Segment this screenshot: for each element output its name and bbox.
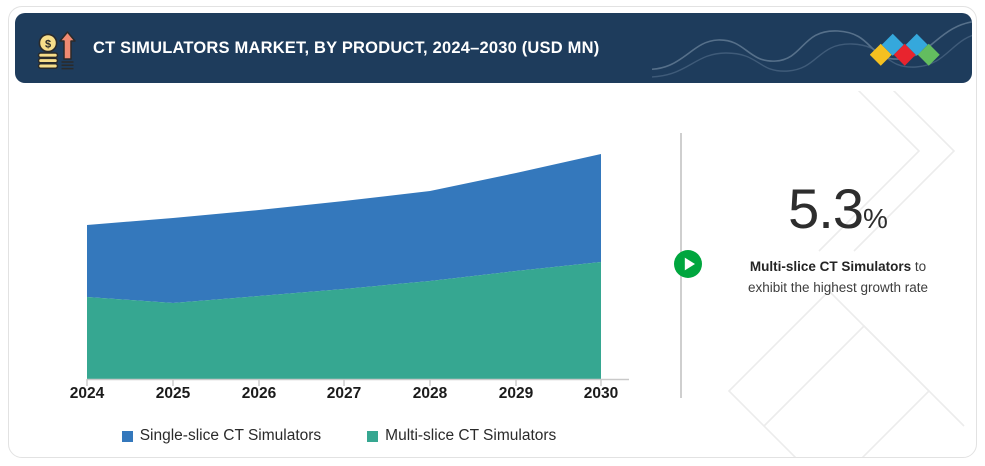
stat-value-row: 5.3 % bbox=[713, 181, 963, 237]
stacked-area-chart bbox=[9, 91, 669, 391]
x-tick-2030: 2030 bbox=[566, 385, 636, 403]
x-tick-2024: 2024 bbox=[52, 385, 122, 403]
legend-item-multi-slice[interactable]: Multi-slice CT Simulators bbox=[367, 427, 556, 445]
legend-swatch-icon bbox=[122, 431, 133, 442]
chart-legend: Single-slice CT Simulators Multi-slice C… bbox=[9, 423, 669, 449]
legend-label: Multi-slice CT Simulators bbox=[385, 427, 556, 445]
stat-value: 5.3 bbox=[788, 181, 863, 237]
header-bar: $ CT SIMULATORS MARKET, BY PRODUCT, 2024… bbox=[15, 13, 972, 83]
legend-swatch-icon bbox=[367, 431, 378, 442]
infographic-card: $ CT SIMULATORS MARKET, BY PRODUCT, 2024… bbox=[8, 6, 977, 458]
page-title: CT SIMULATORS MARKET, BY PRODUCT, 2024–2… bbox=[93, 13, 599, 83]
legend-item-single-slice[interactable]: Single-slice CT Simulators bbox=[122, 427, 321, 445]
stat-block: 5.3 % Multi-slice CT Simulators to exhib… bbox=[713, 181, 963, 299]
x-tick-2028: 2028 bbox=[395, 385, 465, 403]
stat-caption-bold: Multi-slice CT Simulators bbox=[750, 259, 911, 274]
stat-caption-line2: exhibit the highest growth rate bbox=[748, 280, 928, 295]
chart-panel: 2024 2025 2026 2027 2028 2029 2030 Singl… bbox=[9, 91, 669, 458]
x-tick-2029: 2029 bbox=[481, 385, 551, 403]
legend-label: Single-slice CT Simulators bbox=[140, 427, 321, 445]
stat-caption-rest: to bbox=[911, 259, 926, 274]
x-tick-2026: 2026 bbox=[224, 385, 294, 403]
stat-unit: % bbox=[863, 205, 888, 233]
x-tick-2027: 2027 bbox=[309, 385, 379, 403]
diamond-logo bbox=[870, 30, 948, 70]
stat-caption: Multi-slice CT Simulators to exhibit the… bbox=[713, 257, 963, 299]
svg-text:$: $ bbox=[45, 39, 51, 51]
x-tick-2025: 2025 bbox=[138, 385, 208, 403]
insight-panel: 5.3 % Multi-slice CT Simulators to exhib… bbox=[669, 91, 977, 458]
play-badge-icon[interactable] bbox=[673, 249, 703, 279]
money-growth-icon: $ bbox=[33, 26, 79, 72]
x-axis-labels: 2024 2025 2026 2027 2028 2029 2030 bbox=[9, 385, 669, 411]
